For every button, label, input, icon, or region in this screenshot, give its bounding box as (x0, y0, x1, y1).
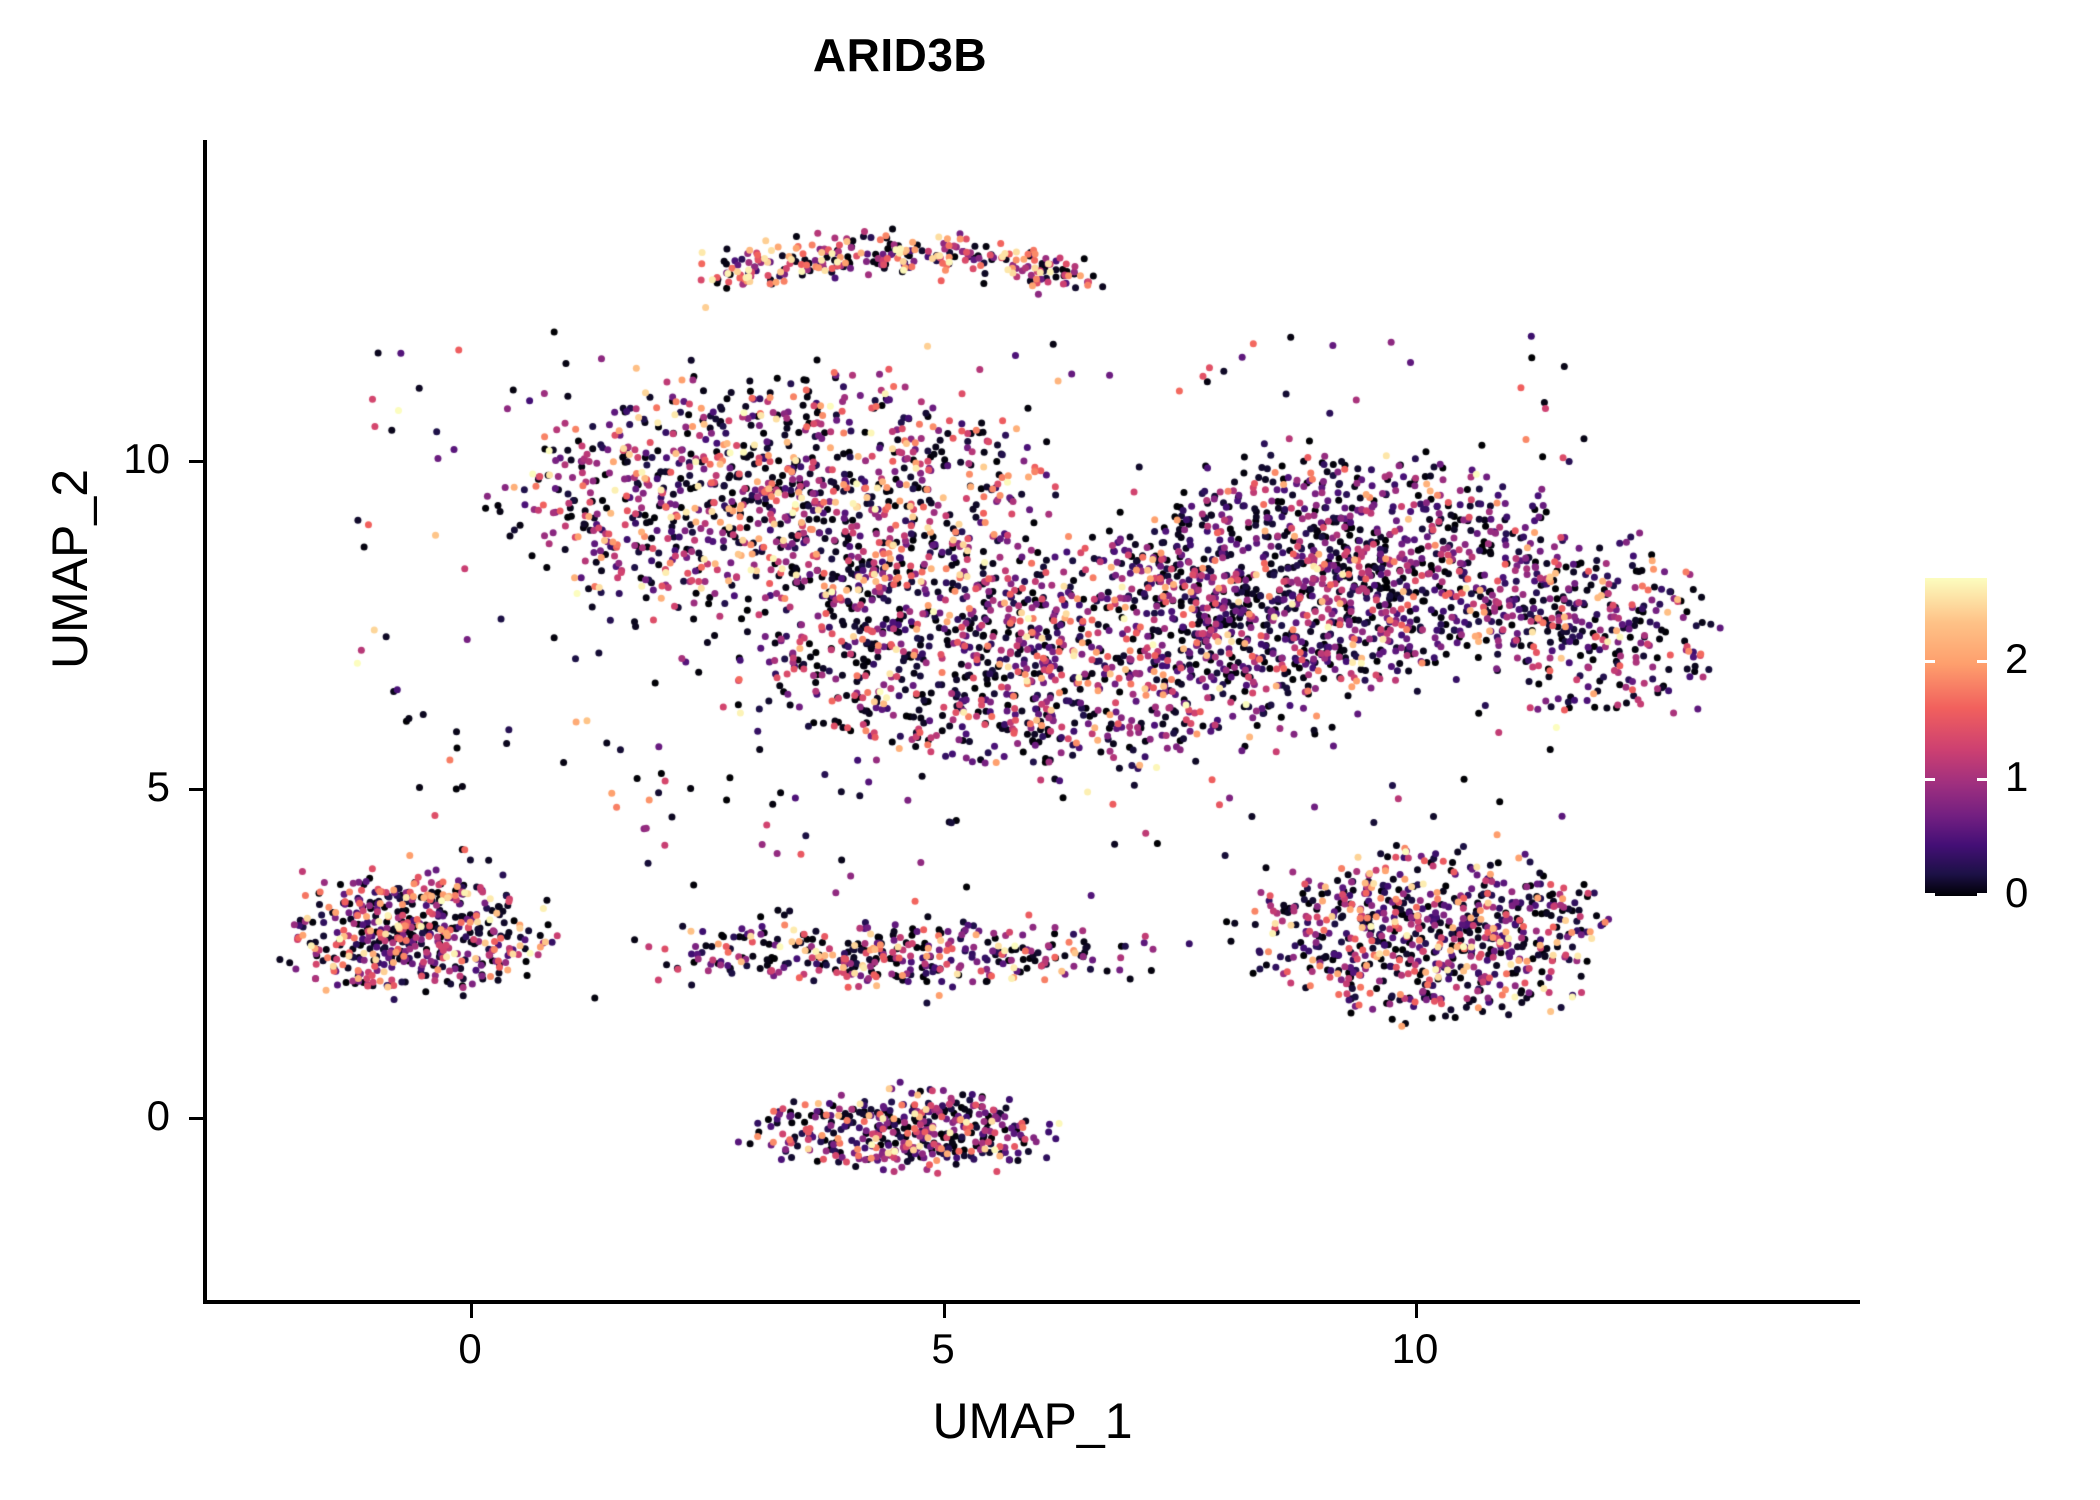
legend-tick-label: 1 (2005, 756, 2075, 798)
y-axis-line (203, 140, 207, 1304)
y-tick-mark (189, 1117, 203, 1120)
y-tick-label: 0 (80, 1095, 170, 1137)
legend-tick-mark (1925, 660, 1935, 663)
legend-tick-mark (1925, 893, 1935, 896)
y-axis-label: UMAP_2 (41, 169, 99, 969)
x-tick-mark (943, 1304, 946, 1318)
x-tick-mark (1415, 1304, 1418, 1318)
scatter-points (205, 140, 1860, 1302)
colorbar-gradient (1925, 578, 1987, 896)
legend-tick-mark (1977, 778, 1987, 781)
plot-panel (205, 140, 1860, 1302)
umap-feature-plot: ARID3B 10 5 0 0 5 10 UMAP_2 UMAP_1 2 1 0 (0, 0, 2100, 1500)
x-tick-label: 5 (883, 1328, 1003, 1370)
y-tick-mark (189, 460, 203, 463)
x-tick-label: 0 (410, 1328, 530, 1370)
legend-tick-mark (1925, 778, 1935, 781)
x-axis-label: UMAP_1 (205, 1392, 1860, 1450)
x-axis-line (203, 1300, 1860, 1304)
legend-tick-label: 2 (2005, 638, 2075, 680)
color-legend: 2 1 0 (1925, 578, 2075, 908)
legend-tick-label: 0 (2005, 872, 2075, 914)
legend-tick-mark (1977, 893, 1987, 896)
legend-tick-mark (1977, 660, 1987, 663)
x-tick-mark (470, 1304, 473, 1318)
page-title: ARID3B (0, 28, 1800, 82)
x-tick-label: 10 (1355, 1328, 1475, 1370)
y-tick-mark (189, 788, 203, 791)
